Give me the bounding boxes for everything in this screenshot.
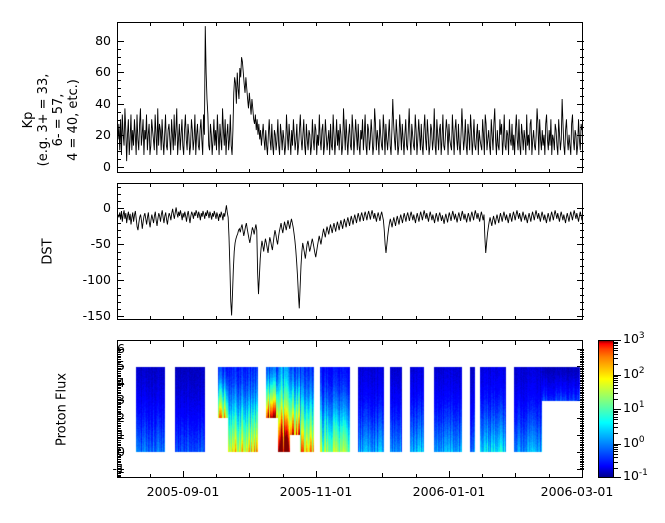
tick-label: 0 (65, 200, 111, 215)
tick-label: 60 (65, 64, 111, 79)
kp-label-line-1: Kp (21, 50, 36, 190)
dst-axis-label: DST (41, 222, 56, 282)
tick-mark (614, 382, 618, 383)
tick-mark (183, 169, 184, 173)
tick-mark (614, 378, 618, 379)
tick-label: 40 (65, 96, 111, 111)
tick-mark (316, 340, 317, 344)
tick-mark (614, 468, 618, 469)
tick-mark (614, 419, 618, 420)
tick-label: -100 (65, 272, 111, 287)
tick-mark (614, 414, 618, 415)
tick-mark (249, 22, 250, 26)
tick-mark (216, 169, 217, 173)
tick-mark (614, 376, 618, 377)
tick-mark (283, 22, 284, 26)
tick-mark (614, 348, 618, 349)
tick-mark (549, 474, 550, 478)
tick-mark (482, 183, 483, 187)
tick-mark (614, 345, 618, 346)
tick-mark (349, 474, 350, 478)
tick-mark (614, 399, 618, 400)
tick-label: 2006-01-01 (399, 484, 499, 499)
tick-mark (614, 412, 618, 413)
tick-mark (382, 473, 383, 478)
tick-mark (614, 342, 618, 343)
tick-label: 2005-11-01 (266, 484, 366, 499)
tick-mark (416, 316, 417, 320)
tick-mark (216, 474, 217, 478)
tick-label: 0 (65, 159, 111, 174)
tick-label: 20 (65, 127, 111, 142)
tick-mark (515, 169, 516, 173)
tick-mark (283, 340, 284, 344)
kp-trace-svg (118, 23, 582, 172)
tick-mark (183, 22, 184, 26)
figure-canvas: Kp (e.g. 3+ = 33, 6- = 57, 4 = 40, etc.)… (0, 0, 665, 523)
tick-mark (416, 169, 417, 173)
tick-mark (614, 445, 618, 446)
tick-mark (614, 380, 618, 381)
tick-mark (382, 183, 383, 187)
dst-trace-svg (118, 184, 582, 319)
tick-mark (216, 340, 217, 344)
tick-mark (416, 474, 417, 478)
tick-mark (614, 393, 618, 394)
colorbar-tick-label: 102 (623, 366, 645, 381)
proton-flux-spectrogram (118, 341, 582, 477)
kp-line-trace (118, 26, 582, 161)
tick-mark (416, 340, 417, 344)
tick-mark (283, 474, 284, 478)
tick-mark (582, 471, 583, 478)
tick-mark (614, 457, 618, 458)
tick-mark (283, 316, 284, 320)
tick-mark (416, 183, 417, 187)
tick-mark (183, 474, 184, 478)
tick-mark (482, 22, 483, 26)
tick-mark (382, 316, 383, 320)
tick-label: 2005-09-01 (133, 484, 233, 499)
tick-mark (382, 169, 383, 173)
tick-mark (449, 316, 450, 320)
dst-line-trace (118, 205, 582, 315)
tick-mark (150, 22, 151, 26)
tick-label: -50 (65, 236, 111, 251)
tick-mark (482, 474, 483, 478)
tick-label: 2006-03-01 (527, 484, 627, 499)
tick-mark (614, 449, 618, 450)
tick-mark (316, 474, 317, 478)
colorbar (598, 340, 614, 478)
tick-mark (183, 316, 184, 320)
tick-mark (549, 316, 550, 320)
tick-mark (150, 474, 151, 478)
tick-mark (449, 169, 450, 173)
tick-mark (549, 183, 550, 187)
tick-mark (449, 22, 450, 26)
tick-mark (582, 340, 583, 347)
tick-mark (316, 22, 317, 26)
tick-mark (614, 388, 618, 389)
tick-mark (249, 169, 250, 173)
tick-mark (349, 316, 350, 320)
tick-mark (614, 433, 618, 434)
tick-mark (614, 411, 618, 412)
kp-label-line-3: 6- = 57, (51, 50, 66, 190)
tick-mark (614, 451, 618, 452)
tick-mark (249, 316, 250, 320)
tick-mark (515, 316, 516, 320)
tick-mark (183, 340, 184, 344)
colorbar-tick-label: 10-1 (623, 468, 648, 483)
tick-mark (283, 169, 284, 173)
tick-mark (449, 340, 450, 344)
tick-mark (614, 447, 618, 448)
tick-mark (316, 183, 317, 187)
tick-mark (316, 316, 317, 320)
tick-mark (382, 340, 383, 345)
colorbar-tick-label: 101 (623, 400, 645, 415)
tick-mark (482, 340, 483, 344)
tick-mark (216, 316, 217, 320)
tick-mark (216, 22, 217, 26)
tick-mark (549, 22, 550, 26)
tick-mark (614, 427, 618, 428)
tick-label: 80 (65, 33, 111, 48)
tick-mark (482, 169, 483, 173)
tick-mark (614, 385, 618, 386)
tick-mark (249, 183, 250, 187)
tick-mark (515, 340, 516, 345)
tick-mark (382, 22, 383, 26)
tick-mark (150, 316, 151, 320)
tick-mark (614, 423, 618, 424)
tick-mark (416, 22, 417, 26)
tick-mark (150, 169, 151, 173)
tick-mark (614, 354, 618, 355)
colorbar-tick-label: 103 (623, 331, 645, 346)
tick-mark (349, 183, 350, 187)
tick-mark (249, 340, 250, 345)
tick-mark (614, 454, 618, 455)
tick-mark (614, 417, 618, 418)
tick-mark (614, 340, 621, 341)
tick-mark (549, 169, 550, 173)
kp-label-line-2: (e.g. 3+ = 33, (36, 50, 51, 190)
tick-mark (549, 340, 550, 344)
tick-mark (515, 473, 516, 478)
tick-mark (349, 22, 350, 26)
tick-mark (349, 340, 350, 344)
tick-mark (449, 474, 450, 478)
tick-mark (349, 169, 350, 173)
tick-mark (249, 473, 250, 478)
colorbar-tick-label: 100 (623, 435, 645, 450)
tick-mark (283, 183, 284, 187)
tick-mark (316, 169, 317, 173)
tick-mark (216, 183, 217, 187)
tick-mark (183, 183, 184, 187)
tick-mark (614, 358, 618, 359)
tick-mark (614, 350, 618, 351)
tick-mark (614, 409, 621, 410)
tick-mark (482, 316, 483, 320)
tick-label: -150 (65, 308, 111, 323)
tick-mark (150, 183, 151, 187)
tick-mark (614, 364, 618, 365)
tick-mark (515, 22, 516, 26)
proton-flux-axis-label: Proton Flux (55, 355, 70, 465)
tick-mark (449, 183, 450, 187)
tick-mark (515, 183, 516, 187)
tick-mark (614, 343, 618, 344)
tick-mark (614, 477, 621, 478)
tick-mark (150, 340, 151, 344)
tick-mark (614, 462, 618, 463)
